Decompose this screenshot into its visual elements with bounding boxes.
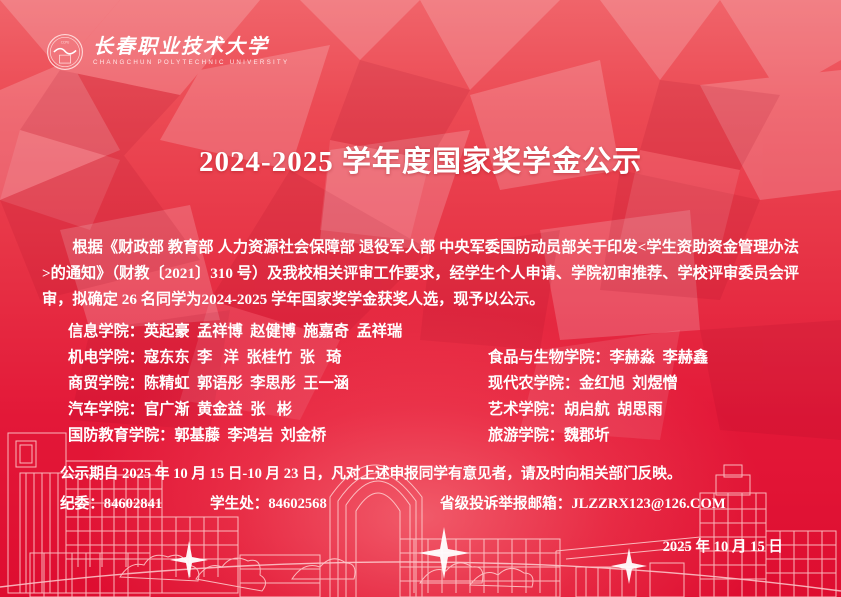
awardee-unit-right: 艺术学院：胡启航 胡思雨	[488, 401, 663, 418]
awardee-unit-left: 国防教育学院：郭基藤 李鸿岩 刘金桥	[68, 427, 326, 444]
awardee-row: 汽车学院：官广渐 黄金益 张 彬 艺术学院：胡启航 胡思雨	[68, 397, 828, 423]
awardee-row: 商贸学院：陈精虹 郭语彤 李思彤 王一涵 现代农学院：金红旭 刘煜憎	[68, 371, 828, 397]
awardee-unit-left: 商贸学院：陈精虹 郭语彤 李思彤 王一涵	[68, 375, 349, 392]
sign-date: 2025 年 10 月 15 日	[0, 535, 783, 556]
awardee-row: 信息学院：英起豪 孟祥博 赵健博 施嘉奇 孟祥瑞	[68, 319, 828, 345]
university-seal-icon: CCPU	[46, 33, 84, 71]
notice-period-text: 公示期自 2025 年 10 月 15 日-10 月 23 日，凡对上述申报同学…	[60, 461, 841, 487]
announcement-body: 根据《财政部 教育部 人力资源社会保障部 退役军人部 中央军委国防动员部关于印发…	[0, 235, 841, 556]
scholarship-announcement-poster: CCPU 长春职业技术大学 CHANGCHUN POLYTECHNIC UNIV…	[0, 0, 841, 597]
contact-row: 纪委：84602841 学生处：84602568 省级投诉举报邮箱：JLZZRX…	[60, 492, 841, 513]
university-logo: CCPU 长春职业技术大学 CHANGCHUN POLYTECHNIC UNIV…	[46, 33, 841, 71]
awardee-row: 国防教育学院：郭基藤 李鸿岩 刘金桥 旅游学院：魏郡圻	[68, 423, 828, 449]
awardee-row: 机电学院：寇东东 李 洋 张桂竹 张 琦 食品与生物学院：李赫淼 李赫鑫	[68, 345, 828, 371]
report-email-contact: 省级投诉举报邮箱：JLZZRX123@126.COM	[440, 492, 841, 513]
logo-name-cn: 长春职业技术大学	[93, 37, 289, 57]
page-title: 2024-2025 学年度国家奖学金公示	[0, 138, 841, 180]
awardee-unit-left: 信息学院：英起豪 孟祥博 赵健博 施嘉奇 孟祥瑞	[68, 323, 402, 340]
awardee-unit-right: 旅游学院：魏郡圻	[488, 427, 610, 444]
awardee-unit-left: 机电学院：寇东东 李 洋 张桂竹 张 琦	[68, 349, 341, 366]
logo-name-en: CHANGCHUN POLYTECHNIC UNIVERSITY	[93, 60, 289, 66]
discipline-contact: 纪委：84602841	[60, 492, 210, 513]
awardee-unit-right: 食品与生物学院：李赫淼 李赫鑫	[488, 349, 708, 366]
svg-text:CCPU: CCPU	[61, 40, 70, 44]
awardee-list: 信息学院：英起豪 孟祥博 赵健博 施嘉奇 孟祥瑞 机电学院：寇东东 李 洋 张桂…	[68, 319, 828, 449]
student-affairs-contact: 学生处：84602568	[210, 492, 440, 513]
announcement-paragraph: 根据《财政部 教育部 人力资源社会保障部 退役军人部 中央军委国防动员部关于印发…	[42, 235, 799, 313]
awardee-unit-right: 现代农学院：金红旭 刘煜憎	[488, 375, 678, 392]
awardee-unit-left: 汽车学院：官广渐 黄金益 张 彬	[68, 401, 292, 418]
